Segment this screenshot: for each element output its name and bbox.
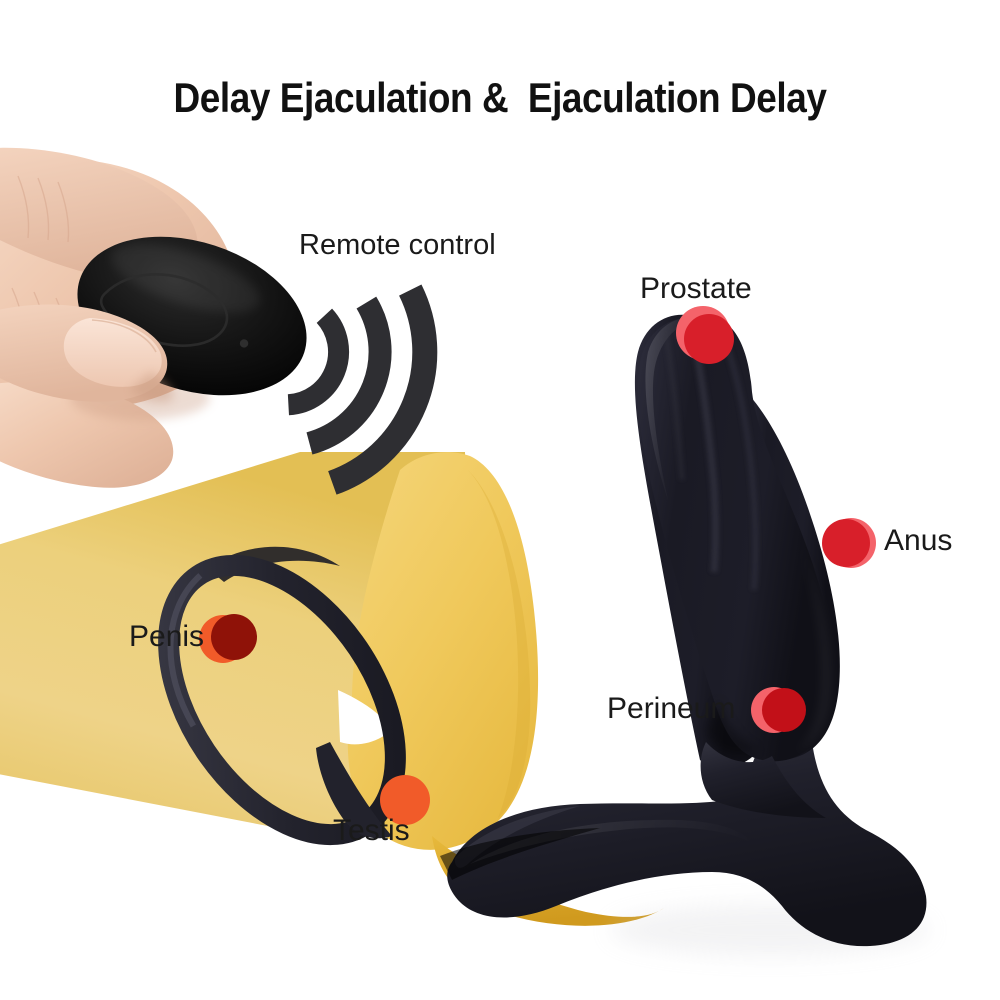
label-prostate: Prostate [640, 272, 752, 306]
label-anus: Anus [884, 524, 952, 558]
label-testis: Testis [333, 814, 410, 848]
label-remote-control: Remote control [299, 229, 496, 262]
illustration-canvas: Delay Ejaculation & Ejaculation Delay Re… [0, 0, 1000, 1000]
product-illustration [0, 0, 1000, 1000]
hand-holding-remote [0, 148, 327, 488]
label-perineum: Perineum [607, 692, 735, 726]
label-penis: Penis [129, 620, 204, 654]
page-title: Delay Ejaculation & Ejaculation Delay [60, 74, 940, 122]
